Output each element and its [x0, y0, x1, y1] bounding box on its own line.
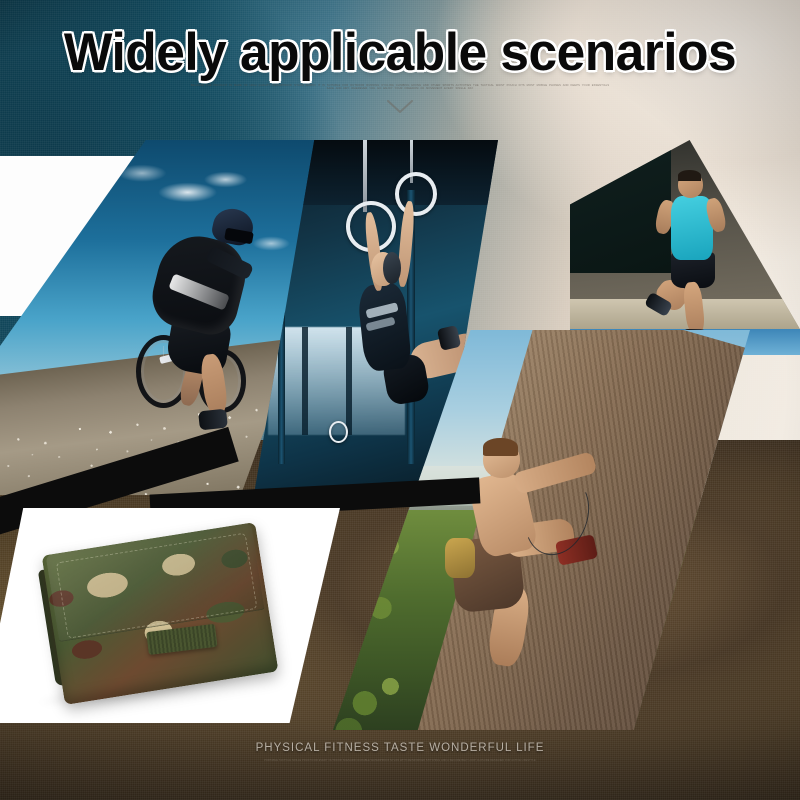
scroll-hint[interactable] — [0, 100, 800, 114]
cyclist-figure — [119, 204, 286, 438]
footer: PHYSICAL FITNESS TASTE WONDERFUL LIFE PO… — [0, 710, 800, 800]
footer-tagline: PHYSICAL FITNESS TASTE WONDERFUL LIFE — [0, 710, 800, 754]
header-microcopy: BECAUSE THE PRODUCT IS MADE OF HIGH QUAL… — [190, 84, 610, 91]
climbing-harness — [445, 538, 475, 578]
promo-banner: Widely applicable scenarios BECAUSE THE … — [0, 0, 800, 800]
panel-product[interactable] — [0, 508, 340, 723]
chevron-down-icon — [387, 100, 413, 114]
hair — [678, 170, 701, 181]
background-ring — [329, 421, 348, 443]
header: Widely applicable scenarios BECAUSE THE … — [0, 0, 800, 150]
window-mullion — [346, 327, 352, 435]
footer-microcopy: PORTABLE TACTICAL MOLLE POUCH FOR EVERY … — [185, 759, 615, 762]
headphones — [383, 252, 401, 284]
window-mullion — [302, 327, 308, 435]
page-title: Widely applicable scenarios — [12, 0, 788, 80]
hair — [483, 438, 517, 456]
